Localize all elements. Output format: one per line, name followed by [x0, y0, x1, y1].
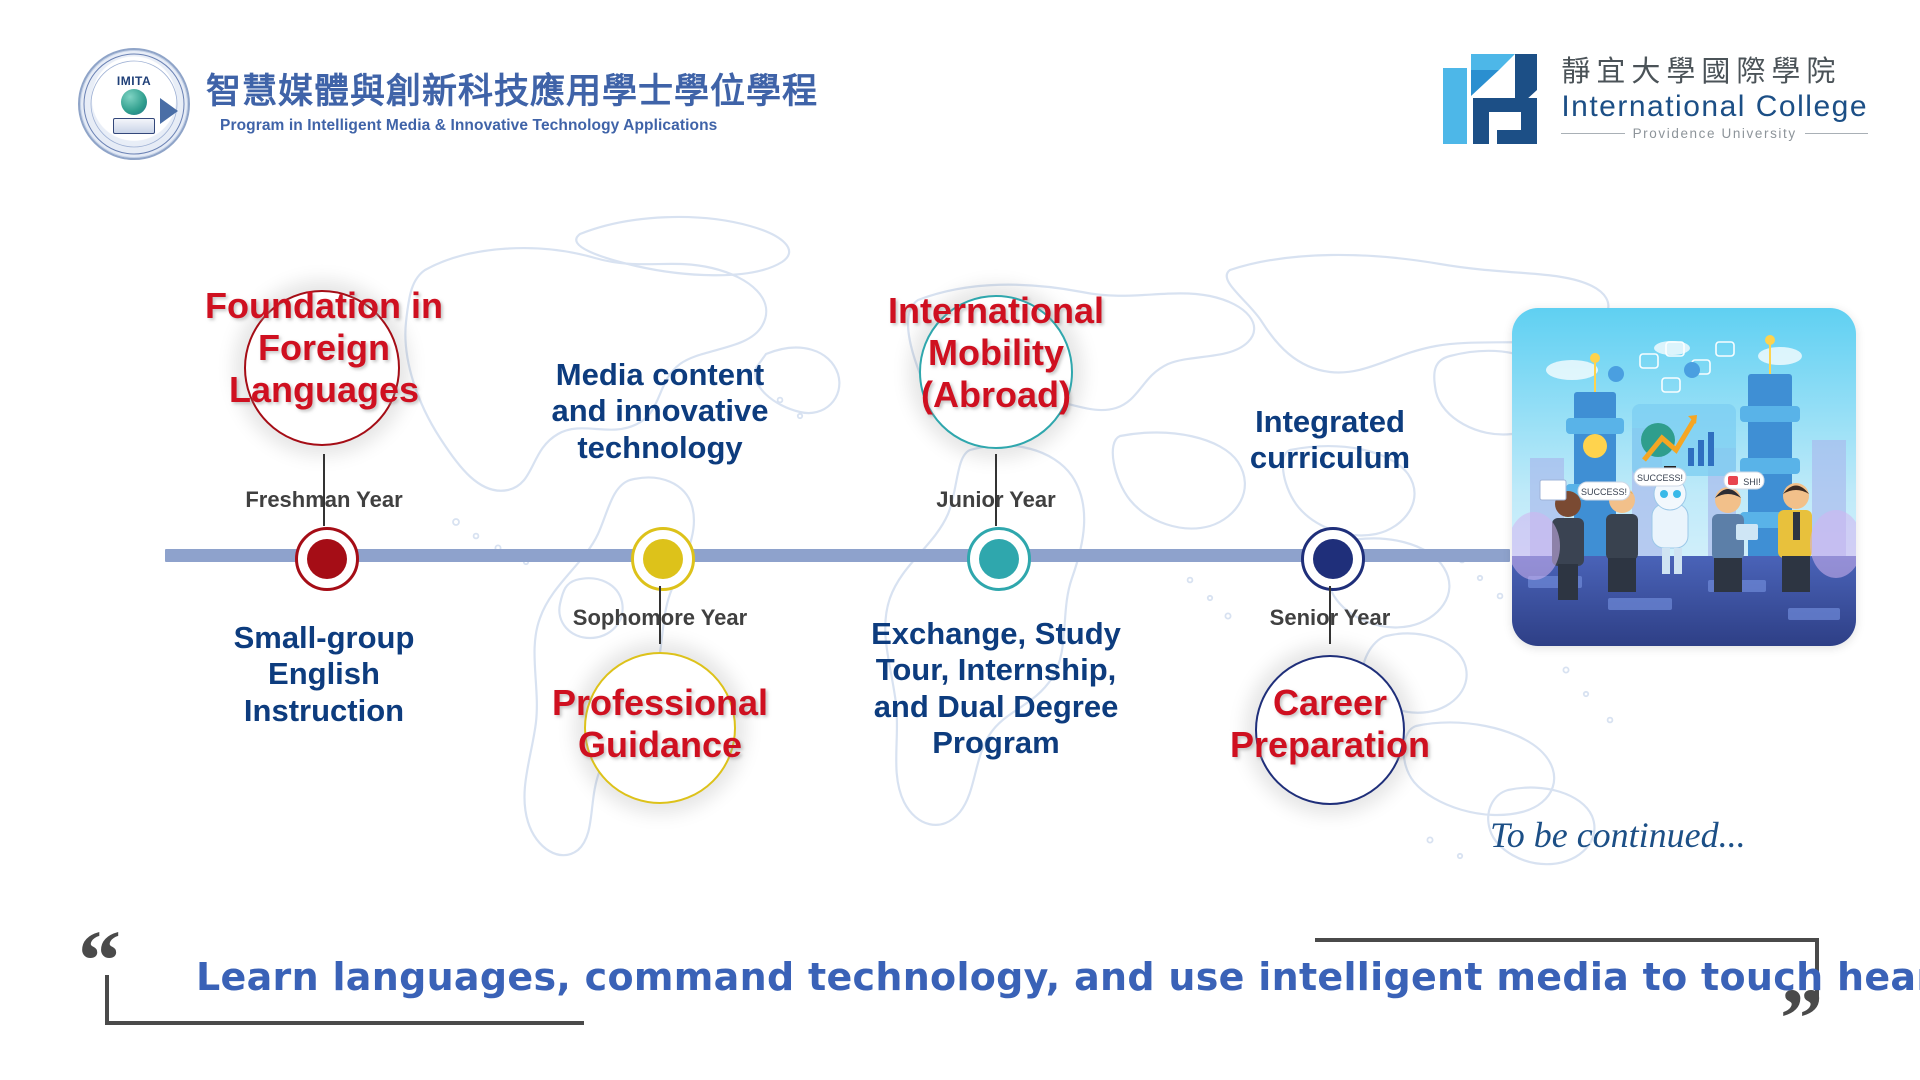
- quote-text: Learn languages, command technology, and…: [196, 955, 1736, 999]
- slide-canvas: IMITA 智慧媒體與創新科技應用學士學位學程 Program in Intel…: [0, 0, 1920, 1080]
- milestone-freshman-below-label: Small-group English Instruction: [164, 620, 484, 729]
- smart-media-city-illustration: SUCCESS! SUCCESS! SHI!: [1512, 308, 1856, 646]
- milestone-junior-above-label: International Mobility (Abroad): [826, 290, 1166, 416]
- milestone-sophomore-marker[interactable]: [631, 527, 695, 591]
- milestone-senior-year-label: Senior Year: [1270, 605, 1391, 631]
- to-be-continued-label: To be continued...: [1490, 814, 1746, 856]
- milestone-freshman-above-label: Foundation in Foreign Languages: [159, 285, 489, 411]
- svg-text:SUCCESS!: SUCCESS!: [1637, 473, 1683, 483]
- milestone-senior-marker[interactable]: [1301, 527, 1365, 591]
- quote-open-mark: “: [78, 930, 121, 990]
- college-name-en: International College: [1561, 90, 1868, 123]
- milestone-senior-above-label: Integrated curriculum: [1170, 404, 1490, 477]
- college-brand: 靜宜大學國際學院 International College Providenc…: [1437, 46, 1868, 150]
- program-title-en: Program in Intelligent Media & Innovativ…: [220, 117, 818, 135]
- svg-text:SHI!: SHI!: [1743, 477, 1761, 487]
- milestone-freshman-marker[interactable]: [295, 527, 359, 591]
- college-name-cn: 靜宜大學國際學院: [1561, 55, 1841, 88]
- university-name: Providence University: [1633, 126, 1797, 141]
- milestone-sophomore-year-label: Sophomore Year: [573, 605, 747, 631]
- divider-right: [1805, 133, 1868, 134]
- milestone-sophomore-below-label: Professional Guidance: [490, 682, 830, 766]
- svg-text:SUCCESS!: SUCCESS!: [1581, 487, 1627, 497]
- imita-seal-logo: IMITA: [78, 48, 190, 160]
- milestone-junior-below-label: Exchange, Study Tour, Internship, and Du…: [831, 616, 1161, 761]
- milestone-sophomore-above-label: Media content and innovative technology: [495, 357, 825, 466]
- program-brand: IMITA 智慧媒體與創新科技應用學士學位學程 Program in Intel…: [78, 48, 818, 160]
- play-triangle-icon: [160, 98, 178, 124]
- divider-left: [1561, 133, 1624, 134]
- milestone-senior-below-label: Career Preparation: [1160, 682, 1500, 766]
- international-college-logo: [1437, 46, 1543, 150]
- program-title-cn: 智慧媒體與創新科技應用學士學位學程: [206, 73, 818, 112]
- milestone-junior-marker[interactable]: [967, 527, 1031, 591]
